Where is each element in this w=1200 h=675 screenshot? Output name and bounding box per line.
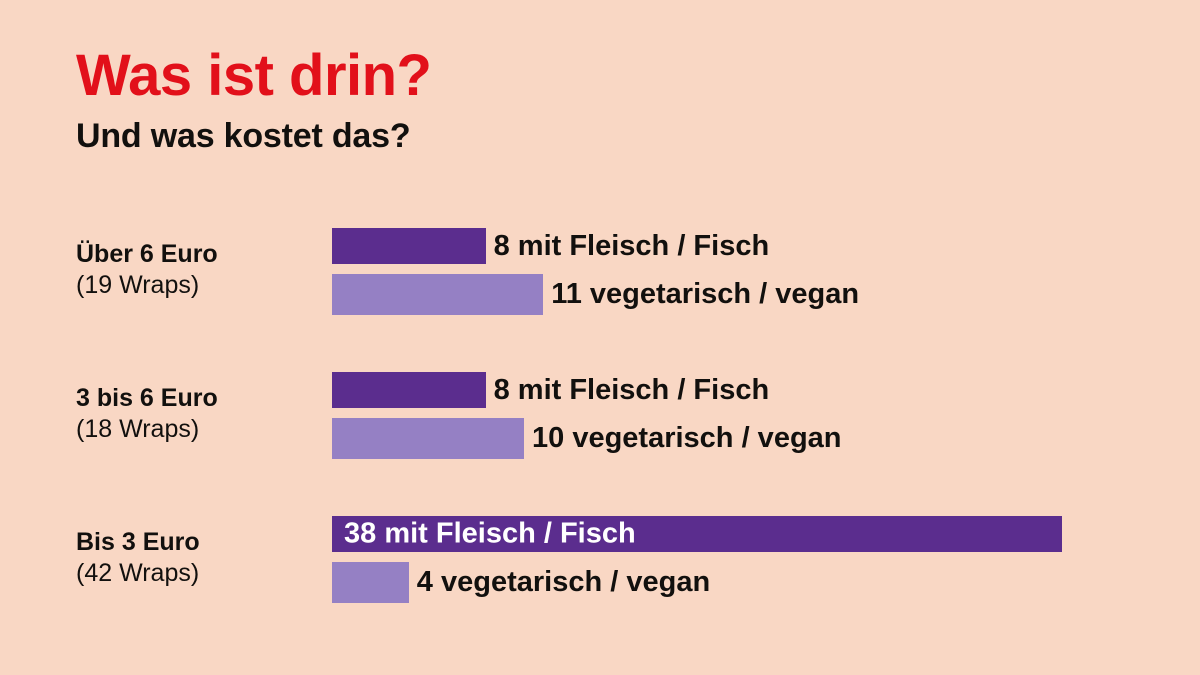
bar-veg <box>332 562 409 603</box>
bar-row: 8 mit Fleisch / Fisch <box>332 228 1200 264</box>
infographic-root: Was ist drin? Und was kostet das? Über 6… <box>0 0 1200 675</box>
header: Was ist drin? Und was kostet das? <box>76 46 1136 155</box>
bar-label-meat: 8 mit Fleisch / Fisch <box>494 376 770 405</box>
bar-row: 8 mit Fleisch / Fisch <box>332 372 1200 408</box>
group-category: Bis 3 Euro <box>76 528 326 558</box>
bar-label-veg: 10 vegetarisch / vegan <box>532 424 842 453</box>
bar-label-veg: 11 vegetarisch / vegan <box>551 280 859 309</box>
group-bars: 8 mit Fleisch / Fisch 11 vegetarisch / v… <box>332 228 1200 315</box>
bar-row: 10 vegetarisch / vegan <box>332 418 1200 459</box>
bar-label-meat: 8 mit Fleisch / Fisch <box>494 232 770 261</box>
bar-meat <box>332 228 486 264</box>
chart-group: 3 bis 6 Euro (18 Wraps) 8 mit Fleisch / … <box>0 372 1200 472</box>
group-label: 3 bis 6 Euro (18 Wraps) <box>76 384 326 444</box>
group-label: Über 6 Euro (19 Wraps) <box>76 240 326 300</box>
bar-meat <box>332 372 486 408</box>
group-bars: 38 mit Fleisch / Fisch 4 vegetarisch / v… <box>332 516 1200 603</box>
group-count: (18 Wraps) <box>76 414 326 445</box>
bar-label-meat: 38 mit Fleisch / Fisch <box>344 520 636 549</box>
bar-row: 11 vegetarisch / vegan <box>332 274 1200 315</box>
group-category: 3 bis 6 Euro <box>76 384 326 414</box>
bar-row: 38 mit Fleisch / Fisch <box>332 516 1200 552</box>
bar-veg <box>332 274 543 315</box>
bar-veg <box>332 418 524 459</box>
bar-chart: Über 6 Euro (19 Wraps) 8 mit Fleisch / F… <box>0 228 1200 616</box>
group-count: (19 Wraps) <box>76 270 326 301</box>
group-label: Bis 3 Euro (42 Wraps) <box>76 528 326 588</box>
chart-group: Bis 3 Euro (42 Wraps) 38 mit Fleisch / F… <box>0 516 1200 616</box>
group-count: (42 Wraps) <box>76 558 326 589</box>
page-title: Was ist drin? <box>76 46 1136 105</box>
bar-label-veg: 4 vegetarisch / vegan <box>417 568 710 597</box>
group-bars: 8 mit Fleisch / Fisch 10 vegetarisch / v… <box>332 372 1200 459</box>
group-category: Über 6 Euro <box>76 240 326 270</box>
bar-row: 4 vegetarisch / vegan <box>332 562 1200 603</box>
bar-meat: 38 mit Fleisch / Fisch <box>332 516 1062 552</box>
page-subtitle: Und was kostet das? <box>76 105 1136 155</box>
chart-group: Über 6 Euro (19 Wraps) 8 mit Fleisch / F… <box>0 228 1200 328</box>
